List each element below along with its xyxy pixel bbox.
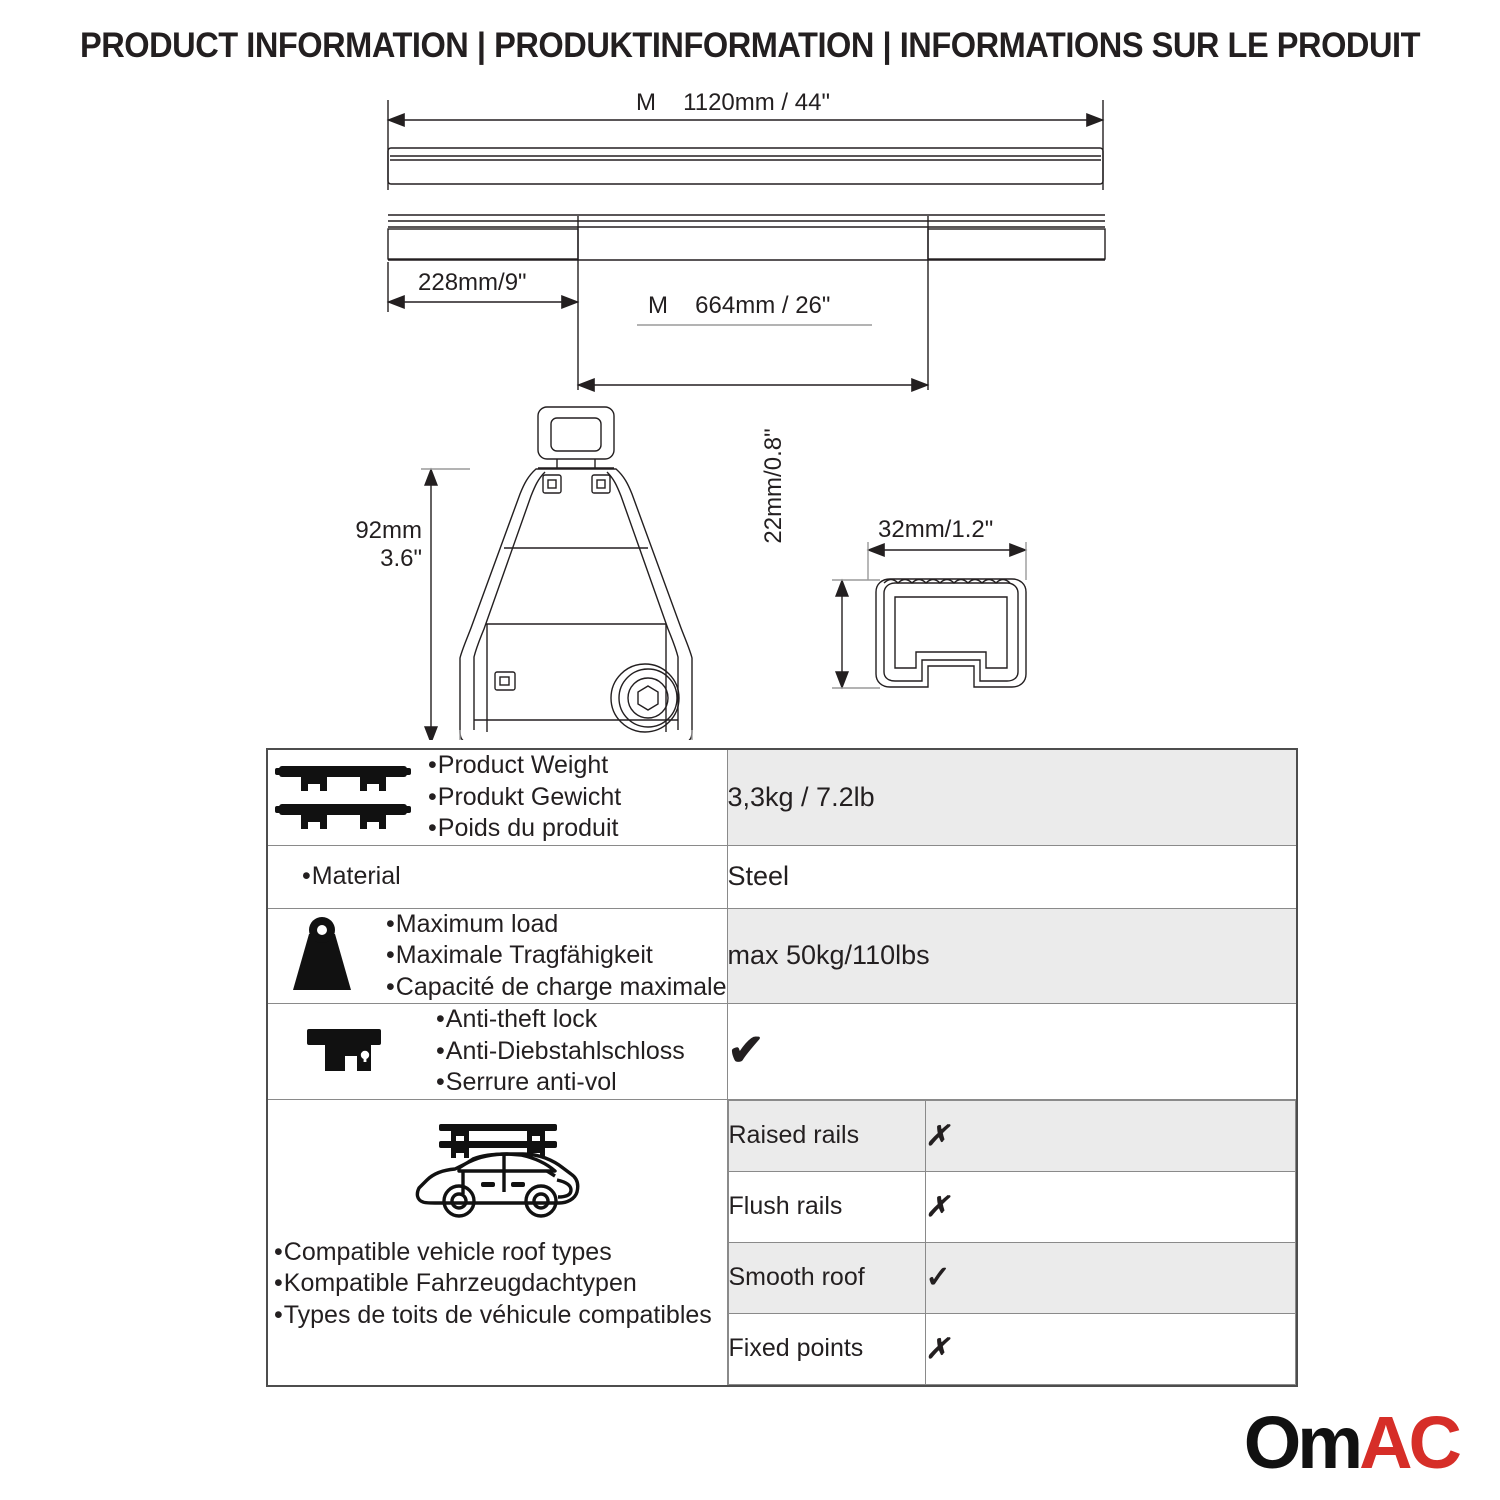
spec-labels-lock: Anti-theft lock Anti-Diebstahlschloss Se…: [436, 1004, 685, 1099]
crossbars-icon: [268, 760, 418, 834]
logo-text-red: AC: [1359, 1401, 1458, 1484]
roof-type-row: Flush rails ✗: [728, 1171, 1296, 1242]
dim-profile-width: 32mm/1.2": [878, 516, 993, 544]
roof-type-mark: ✗: [925, 1313, 1296, 1384]
spec-label-line: Product Weight: [428, 750, 621, 782]
dim-span: M 664mm / 26": [648, 292, 830, 320]
cross-icon: ✗: [926, 1191, 949, 1222]
spec-label-line: Kompatible Fahrzeugdachtypen: [274, 1268, 727, 1300]
weight-icon: [268, 916, 376, 996]
spec-value-max-load: max 50kg/110lbs: [727, 908, 1297, 1004]
cross-icon: ✗: [926, 1120, 949, 1151]
spec-label-line: Anti-theft lock: [436, 1004, 685, 1036]
spec-label-cell-max-load: Maximum load Maximale Tragfähigkeit Capa…: [267, 908, 727, 1004]
roof-type-name: Raised rails: [728, 1100, 925, 1171]
roof-types-cell: Raised rails ✗ Flush rails ✗: [727, 1099, 1297, 1386]
table-row: Maximum load Maximale Tragfähigkeit Capa…: [267, 908, 1297, 1004]
spec-label-line: Poids du produit: [428, 813, 621, 845]
spec-value-lock: ✔: [727, 1004, 1297, 1100]
lock-icon: [268, 1019, 426, 1083]
cross-icon: ✗: [926, 1333, 949, 1364]
logo-text-dark: Om: [1244, 1401, 1359, 1484]
dim-foot-height-in: 3.6": [330, 545, 422, 573]
dim-bar-length-value: 1120mm / 44": [683, 89, 830, 116]
check-icon: ✔: [728, 1026, 765, 1075]
dim-span-prefix: M: [648, 292, 669, 319]
spec-label-cell-compatibility: Compatible vehicle roof types Kompatible…: [267, 1099, 727, 1386]
roof-type-row: Fixed points ✗: [728, 1313, 1296, 1384]
dim-span-value: 664mm / 26": [695, 292, 830, 319]
spec-label-line: Serrure anti-vol: [436, 1067, 685, 1099]
spec-label-line: Compatible vehicle roof types: [274, 1237, 727, 1269]
roof-types-table: Raised rails ✗ Flush rails ✗: [728, 1100, 1297, 1385]
spec-label-line: Produkt Gewicht: [428, 782, 621, 814]
roof-type-name: Flush rails: [728, 1171, 925, 1242]
spec-value-material: Steel: [727, 845, 1297, 908]
check-icon: ✓: [926, 1261, 951, 1294]
dim-bar-length: M 1120mm / 44": [636, 89, 830, 117]
dim-bar-length-prefix: M: [636, 89, 657, 116]
spec-label-line: Maximum load: [386, 909, 727, 941]
technical-drawings: M 1120mm / 44" 228mm/9" M 664mm / 26" 92…: [0, 80, 1500, 740]
spec-label-line: Anti-Diebstahlschloss: [436, 1036, 685, 1068]
spec-labels-material: Material: [302, 861, 401, 893]
roof-type-mark: ✗: [925, 1171, 1296, 1242]
spec-value-weight: 3,3kg / 7.2lb: [727, 749, 1297, 845]
page-title: PRODUCT INFORMATION | PRODUKTINFORMATION…: [53, 26, 1448, 66]
spec-label-cell-weight: Product Weight Produkt Gewicht Poids du …: [267, 749, 727, 845]
table-row: Anti-theft lock Anti-Diebstahlschloss Se…: [267, 1004, 1297, 1100]
spec-label-cell-lock: Anti-theft lock Anti-Diebstahlschloss Se…: [267, 1004, 727, 1100]
spec-label-line: Capacité de charge maximale: [386, 972, 727, 1004]
dim-foot-height-mm: 92mm: [330, 517, 422, 545]
spec-label-line: Material: [302, 861, 401, 893]
drawings-svg: [0, 80, 1500, 740]
spec-labels-max-load: Maximum load Maximale Tragfähigkeit Capa…: [386, 909, 727, 1004]
roof-type-mark: ✗: [925, 1100, 1296, 1171]
spec-labels-weight: Product Weight Produkt Gewicht Poids du …: [428, 750, 621, 845]
roof-type-row: Smooth roof ✓: [728, 1242, 1296, 1313]
spec-label-line: Types de toits de véhicule compatibles: [274, 1300, 727, 1332]
table-row: Compatible vehicle roof types Kompatible…: [267, 1099, 1297, 1386]
dim-foot-offset: 228mm/9": [418, 269, 527, 297]
table-row: Material Steel: [267, 845, 1297, 908]
roof-type-mark: ✓: [925, 1242, 1296, 1313]
roof-type-name: Smooth roof: [728, 1242, 925, 1313]
spec-label-line: Maximale Tragfähigkeit: [386, 940, 727, 972]
dim-foot-height: 92mm 3.6": [330, 517, 422, 573]
roof-type-name: Fixed points: [728, 1313, 925, 1384]
spec-labels-compatibility: Compatible vehicle roof types Kompatible…: [268, 1237, 727, 1332]
spec-label-cell-material: Material: [267, 845, 727, 908]
roof-type-row: Raised rails ✗: [728, 1100, 1296, 1171]
omac-logo: OmAC: [1244, 1406, 1458, 1480]
table-row: Product Weight Produkt Gewicht Poids du …: [267, 749, 1297, 845]
specification-table: Product Weight Produkt Gewicht Poids du …: [266, 748, 1298, 1387]
dim-profile-height: 22mm/0.8": [760, 411, 788, 561]
car-with-roof-bars-icon: [407, 1114, 587, 1231]
